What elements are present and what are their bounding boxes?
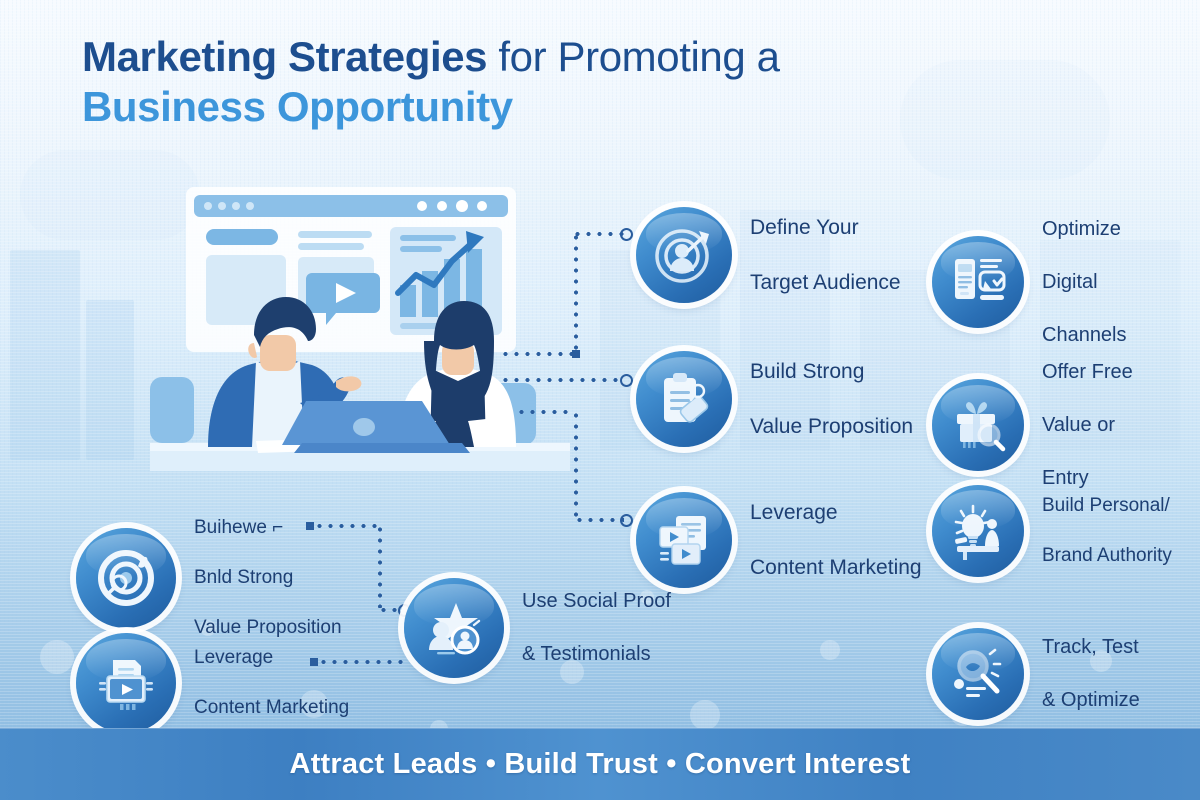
footer-banner: Attract Leads • Build Trust • Convert In… — [0, 728, 1200, 800]
strategy-label: Leverage Content Marketing — [750, 471, 922, 610]
target-magnifier-icon — [76, 528, 176, 628]
title-line-1: Marketing Strategies for Promoting a — [82, 32, 982, 82]
strategy-item-leverage-content-marketing[interactable]: Leverage Content Marketing — [636, 471, 922, 610]
connector-dots — [572, 232, 624, 236]
skyline-shape — [10, 250, 80, 460]
strategy-label: Track, Test & Optimize — [1042, 608, 1140, 740]
strategy-item-build-brand-authority[interactable]: Build Personal/ Brand Authority — [932, 468, 1172, 593]
mobile-devices-icon — [932, 236, 1024, 328]
connector-dots — [574, 518, 624, 522]
skyline-shape — [86, 300, 134, 460]
strategy-label-line1: Track, Test — [1042, 634, 1140, 660]
connector-dots — [500, 352, 576, 356]
strategy-label-line1: Build Personal/ — [1042, 493, 1172, 518]
strategy-item-build-value-proposition[interactable]: Build Strong Value Proposition — [636, 330, 913, 469]
strategy-label-line2: Content Marketing — [194, 695, 349, 720]
clipboard-tag-icon — [636, 351, 732, 447]
strategy-label-line1: Optimize — [1042, 216, 1127, 242]
strategy-label-line1: Leverage — [194, 645, 349, 670]
strategy-label: Build Personal/ Brand Authority — [1042, 468, 1172, 593]
strategy-label: Define Your Target Audience — [750, 186, 901, 325]
strategy-label-line2: Value Proposition — [750, 413, 913, 441]
connector-endpoint — [620, 374, 633, 387]
hero-illustration — [150, 185, 570, 480]
strategy-label-line1: Build Strong — [750, 358, 913, 386]
strategy-label: Build Strong Value Proposition — [750, 330, 913, 469]
gift-magnifier-icon — [932, 379, 1024, 471]
strategy-label: Use Social Proof & Testimonials — [522, 562, 671, 694]
connector-dots — [574, 410, 578, 520]
connector-dots — [516, 410, 574, 414]
strategy-label-line2: Digital — [1042, 269, 1127, 295]
target-audience-icon — [636, 207, 732, 303]
strategy-label-line2: Target Audience — [750, 269, 901, 297]
strategy-label-line2: & Optimize — [1042, 687, 1140, 713]
connector-endpoint — [620, 514, 633, 527]
strategy-label-line1: Leverage — [750, 499, 922, 527]
video-folder-icon — [76, 633, 176, 733]
lightbulb-podium-icon — [932, 485, 1024, 577]
connector-dots — [500, 378, 624, 382]
title-strong: Marketing Strategies — [82, 33, 487, 80]
strategy-label-line1: Use Social Proof — [522, 588, 671, 614]
connector-dots — [378, 524, 382, 608]
strategy-label: Leverage Content Marketing — [194, 620, 349, 745]
strategy-label-line1: Buihewe ⌐ — [194, 515, 342, 540]
connector-endpoint — [620, 228, 633, 241]
business-meeting-illustration — [150, 185, 570, 480]
strategy-label-line1: Offer Free — [1042, 359, 1133, 385]
page-title: Marketing Strategies for Promoting a Bus… — [82, 32, 982, 131]
connector-dots — [574, 232, 578, 354]
strategy-item-left-content-marketing[interactable]: Leverage Content Marketing — [76, 620, 349, 745]
strategy-label-line1: Define Your — [750, 214, 901, 242]
title-line-2: Business Opportunity — [82, 82, 982, 132]
strategy-item-track-test-optimize[interactable]: Track, Test & Optimize — [932, 608, 1140, 740]
footer-banner-text: Attract Leads • Build Trust • Convert In… — [290, 748, 911, 781]
strategy-label-line2: & Testimonials — [522, 641, 671, 667]
strategy-label-line2: Content Marketing — [750, 554, 922, 582]
strategy-item-use-social-proof[interactable]: Use Social Proof & Testimonials — [404, 562, 671, 694]
star-people-testimonial-icon — [404, 578, 504, 678]
infographic-canvas: Marketing Strategies for Promoting a Bus… — [0, 0, 1200, 800]
magnifier-clock-icon — [932, 628, 1024, 720]
strategy-item-define-target-audience[interactable]: Define Your Target Audience — [636, 186, 901, 325]
strategy-label-line2: Value or — [1042, 412, 1133, 438]
strategy-label-line2: Brand Authority — [1042, 543, 1172, 568]
title-regular: for Promoting a — [487, 33, 779, 80]
strategy-label-line2: Bnld Strong — [194, 565, 342, 590]
